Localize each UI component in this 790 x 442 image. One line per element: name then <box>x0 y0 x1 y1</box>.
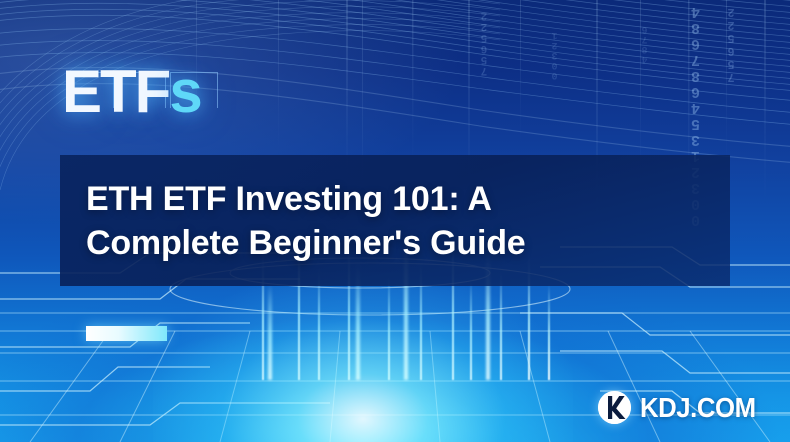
accent-bar <box>86 326 167 341</box>
page-title: ETH ETF Investing 101: AComplete Beginne… <box>60 155 730 265</box>
etf-article-banner: 00321354687684 756522 756522 00321 4876 <box>0 0 790 442</box>
category-label-prefix: ETF <box>62 58 169 125</box>
title-banner-box: ETH ETF Investing 101: AComplete Beginne… <box>60 155 730 286</box>
category-wordmark: ETFs <box>62 62 201 122</box>
page-title-line-1: ETH ETF Investing 101: A <box>86 180 492 218</box>
kdj-logo-text: KDJ.COM <box>640 392 756 424</box>
page-title-line-2: Complete Beginner's Guide <box>86 224 526 262</box>
central-core-glow-decoration <box>153 272 573 442</box>
background-digits-column-4: 00321 <box>549 30 560 80</box>
background-digits-column-5: 4876 <box>639 24 650 64</box>
category-label-suffix: s <box>169 58 200 125</box>
kdj-k-monogram-icon <box>598 391 631 424</box>
kdj-logo[interactable]: KDJ.COM <box>598 391 766 424</box>
category-label: ETFs <box>62 62 201 122</box>
background-digits-column-3: 756522 <box>478 10 490 76</box>
background-digits-column-2: 756522 <box>724 6 738 84</box>
